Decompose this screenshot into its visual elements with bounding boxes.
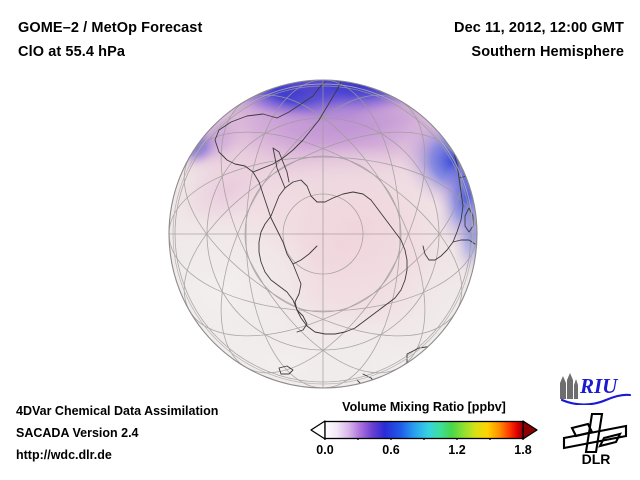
header-right-block: Dec 11, 2012, 12:00 GMT Southern Hemisph…: [454, 16, 624, 64]
species-level-title: ClO at 55.4 hPa: [18, 40, 202, 64]
dlr-logo: DLR: [562, 412, 634, 466]
coast-tasmania: [453, 386, 459, 390]
instrument-title: GOME–2 / MetOp Forecast: [18, 16, 202, 40]
riu-logo-icon: RIU: [556, 373, 634, 405]
colorbar: Volume Mixing Ratio [ppbv]: [310, 399, 538, 463]
riu-tower-icon: [560, 373, 578, 399]
colorbar-tick-label: 1.2: [448, 443, 465, 457]
globe-map: [167, 78, 479, 390]
colorbar-body: [325, 422, 523, 439]
colorbar-tick-label: 0.6: [382, 443, 399, 457]
footer-left-block: 4DVar Chemical Data Assimilation SACADA …: [16, 400, 218, 466]
header-left-block: GOME–2 / MetOp Forecast ClO at 55.4 hPa: [18, 16, 202, 64]
colorbar-tick-label: 1.8: [514, 443, 531, 457]
coast-island-southwest: [203, 364, 225, 372]
colorbar-gradient: [310, 420, 538, 440]
method-label: 4DVar Chemical Data Assimilation: [16, 400, 218, 422]
url-label[interactable]: http://wdc.dlr.de: [16, 444, 218, 466]
colorbar-tick-label: 0.0: [316, 443, 333, 457]
dlr-logo-icon: DLR: [562, 412, 634, 466]
colorbar-title: Volume Mixing Ratio [ppbv]: [310, 399, 538, 415]
coast-island-north: [237, 82, 251, 92]
dlr-wordmark: DLR: [582, 451, 611, 466]
riu-logo: RIU: [556, 373, 634, 405]
hemisphere-label: Southern Hemisphere: [454, 40, 624, 64]
riu-wordmark: RIU: [579, 374, 619, 398]
orthographic-projection: [167, 78, 479, 390]
colorbar-bar: [310, 420, 538, 440]
figure-canvas: GOME–2 / MetOp Forecast ClO at 55.4 hPa …: [0, 0, 640, 480]
datetime-label: Dec 11, 2012, 12:00 GMT: [454, 16, 624, 40]
colorbar-max-arrow: [523, 421, 537, 439]
version-label: SACADA Version 2.4: [16, 422, 218, 444]
dlr-pinwheel-icon: [564, 414, 626, 452]
colorbar-min-arrow: [311, 421, 325, 439]
colorbar-tick-labels: 0.0 0.6 1.2 1.8: [310, 443, 538, 463]
